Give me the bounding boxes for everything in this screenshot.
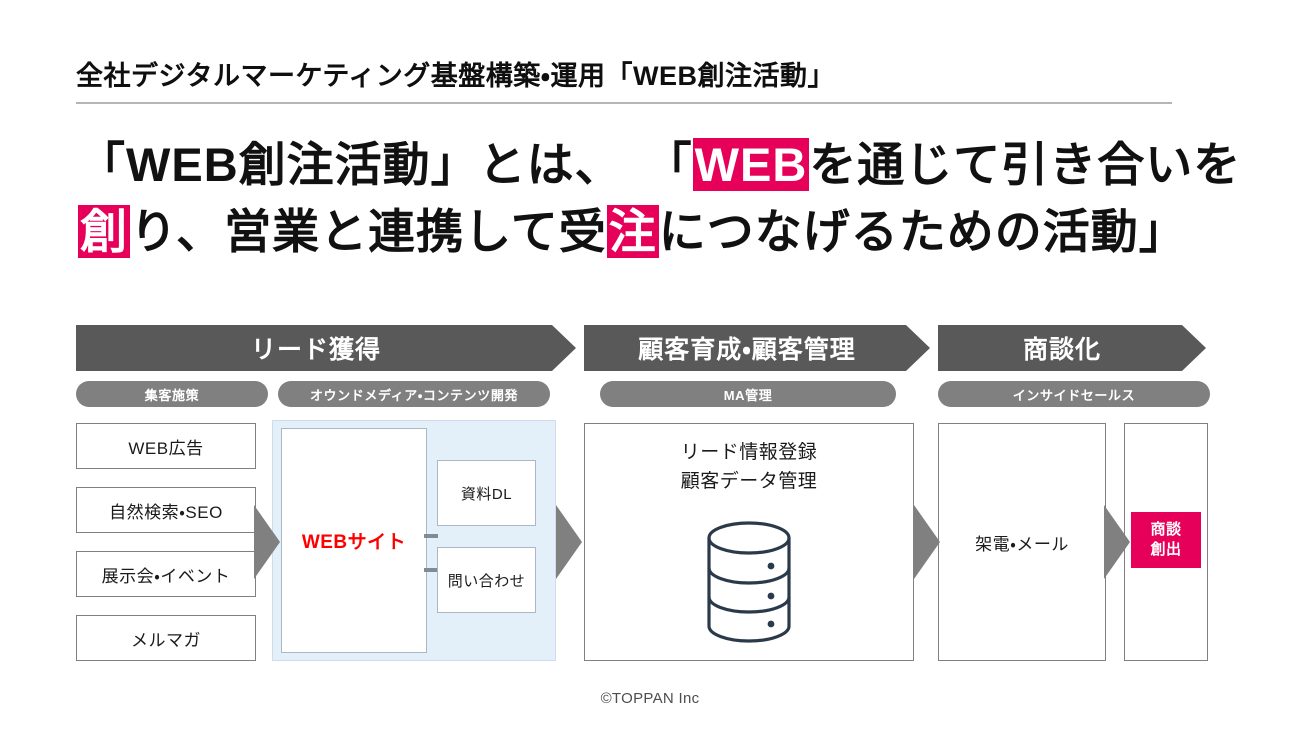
- phase-header-label: 顧客育成・顧客管理: [638, 330, 856, 366]
- slide-canvas: 全社デジタルマーケティング基盤構築・運用「WEB創注活動」 「WEB創注活動」と…: [0, 0, 1300, 731]
- headline-line-1: 「WEB創注活動」とは、「WEBを通じて引き合いを: [78, 132, 1228, 199]
- headline-line-2: 創り、営業と連携して受注につなげるための活動」: [78, 199, 1228, 266]
- opportunity-badge-line-1: 商談: [1150, 520, 1181, 540]
- connector-line-contact: [424, 568, 438, 572]
- headline-line1-part-b: を通じて引き合いを: [809, 138, 1241, 191]
- ma-label: リード情報登録 顧客データ管理: [584, 439, 914, 496]
- opportunity-creation-badge: 商談 創出: [1131, 512, 1201, 568]
- lead-source-box-newsletter: メルマガ: [76, 615, 256, 661]
- opportunity-badge-line-2: 創出: [1150, 540, 1181, 560]
- headline-line2-part-a: り、営業と連携して受: [130, 205, 607, 258]
- headline-highlight-chu: 注: [607, 205, 659, 258]
- sub-pill-owned-media: オウンドメディア・コンテンツ開発: [278, 381, 550, 407]
- sub-pill-traffic-measures: 集客施策: [76, 381, 268, 407]
- lead-source-box-events: 展示会・イベント: [76, 551, 256, 597]
- website-box: WEBサイト: [281, 428, 427, 653]
- lead-source-box-seo: 自然検索・SEO: [76, 487, 256, 533]
- title-divider: [76, 102, 1172, 104]
- database-icon: [705, 520, 793, 644]
- phase-header-lead-acquisition: リード獲得: [76, 325, 576, 371]
- conversion-box-contact-form: 問い合わせ: [437, 547, 536, 613]
- phase-header-opportunity: 商談化: [938, 325, 1206, 371]
- headline-highlight-web: WEB: [693, 138, 810, 191]
- connector-line-download: [424, 534, 438, 538]
- flow-arrow-icon-2: [556, 505, 582, 579]
- inside-sales-activity-box: 架電・メール: [938, 423, 1106, 661]
- ma-label-line-2: 顧客データ管理: [584, 468, 914, 497]
- ma-label-line-1: リード情報登録: [584, 439, 914, 468]
- headline: 「WEB創注活動」とは、「WEBを通じて引き合いを 創り、営業と連携して受注につ…: [78, 132, 1228, 265]
- conversion-box-document-download: 資料DL: [437, 460, 536, 526]
- phase-header-label: 商談化: [1023, 330, 1101, 366]
- headline-line1-open-bracket: 「: [645, 138, 693, 191]
- flow-arrow-icon-3: [914, 505, 940, 579]
- sub-pill-ma-management: MA管理: [600, 381, 896, 407]
- phase-header-label: リード獲得: [251, 330, 381, 366]
- phase-header-nurturing: 顧客育成・顧客管理: [584, 325, 930, 371]
- headline-line1-part-a: 「WEB創注活動」とは、: [78, 138, 623, 191]
- footer-copyright: ©TOPPAN Inc: [0, 690, 1300, 707]
- headline-highlight-sou: 創: [78, 205, 130, 258]
- sub-pill-inside-sales: インサイドセールス: [938, 381, 1210, 407]
- headline-line2-part-b: につなげるための活動」: [659, 205, 1187, 258]
- lead-source-box-web-ads: WEB広告: [76, 423, 256, 469]
- page-title: 全社デジタルマーケティング基盤構築・運用「WEB創注活動」: [76, 54, 835, 93]
